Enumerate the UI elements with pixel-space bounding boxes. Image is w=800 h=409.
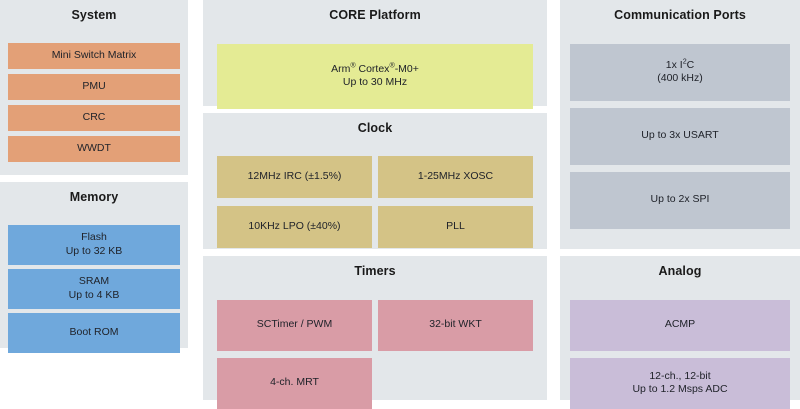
block-usart[interactable]: Up to 3x USART bbox=[570, 108, 790, 165]
panel-clock: Clock 12MHz IRC (±1.5%) 1-25MHz XOSC 10K… bbox=[203, 113, 547, 249]
panel-title-communication-ports: Communication Ports bbox=[560, 0, 800, 22]
block-spi[interactable]: Up to 2x SPI bbox=[570, 172, 790, 229]
block-wwdt[interactable]: WWDT bbox=[8, 136, 180, 162]
block-mini-switch-matrix[interactable]: Mini Switch Matrix bbox=[8, 43, 180, 69]
block-i2c[interactable]: 1x I2C (400 kHz) bbox=[570, 44, 790, 101]
panel-title-clock: Clock bbox=[203, 113, 547, 135]
block-crc[interactable]: CRC bbox=[8, 105, 180, 131]
panel-communication-ports: Communication Ports 1x I2C (400 kHz) Up … bbox=[560, 0, 800, 249]
block-10khz-lpo[interactable]: 10KHz LPO (±40%) bbox=[217, 206, 372, 248]
block-arm-cortex-m0plus[interactable]: Arm® Cortex®-M0+ Up to 30 MHz bbox=[217, 44, 533, 109]
panel-title-analog: Analog bbox=[560, 256, 800, 278]
core-cpu-line: Arm® Cortex®-M0+ bbox=[331, 63, 419, 76]
block-acmp[interactable]: ACMP bbox=[570, 300, 790, 351]
panel-title-core-platform: CORE Platform bbox=[203, 0, 547, 22]
block-sctimer-pwm[interactable]: SCTimer / PWM bbox=[217, 300, 372, 351]
block-adc[interactable]: 12-ch., 12-bit Up to 1.2 Msps ADC bbox=[570, 358, 790, 409]
block-sram[interactable]: SRAM Up to 4 KB bbox=[8, 269, 180, 309]
panel-title-timers: Timers bbox=[203, 256, 547, 278]
block-12mhz-irc[interactable]: 12MHz IRC (±1.5%) bbox=[217, 156, 372, 198]
block-32bit-wkt[interactable]: 32-bit WKT bbox=[378, 300, 533, 351]
panel-analog: Analog ACMP 12-ch., 12-bit Up to 1.2 Msp… bbox=[560, 256, 800, 400]
block-flash[interactable]: Flash Up to 32 KB bbox=[8, 225, 180, 265]
panel-core-platform: CORE Platform Arm® Cortex®-M0+ Up to 30 … bbox=[203, 0, 547, 106]
panel-system: System Mini Switch Matrix PMU CRC WWDT bbox=[0, 0, 188, 175]
panel-timers: Timers SCTimer / PWM 32-bit WKT 4-ch. MR… bbox=[203, 256, 547, 400]
block-xosc[interactable]: 1-25MHz XOSC bbox=[378, 156, 533, 198]
block-pmu[interactable]: PMU bbox=[8, 74, 180, 100]
panel-title-memory: Memory bbox=[0, 182, 188, 204]
block-4ch-mrt[interactable]: 4-ch. MRT bbox=[217, 358, 372, 409]
block-pll[interactable]: PLL bbox=[378, 206, 533, 248]
block-boot-rom[interactable]: Boot ROM bbox=[8, 313, 180, 353]
i2c-line: 1x I2C bbox=[666, 59, 695, 72]
panel-title-system: System bbox=[0, 0, 188, 22]
panel-memory: Memory Flash Up to 32 KB SRAM Up to 4 KB… bbox=[0, 182, 188, 348]
mcu-block-diagram: System Mini Switch Matrix PMU CRC WWDT M… bbox=[0, 0, 800, 400]
